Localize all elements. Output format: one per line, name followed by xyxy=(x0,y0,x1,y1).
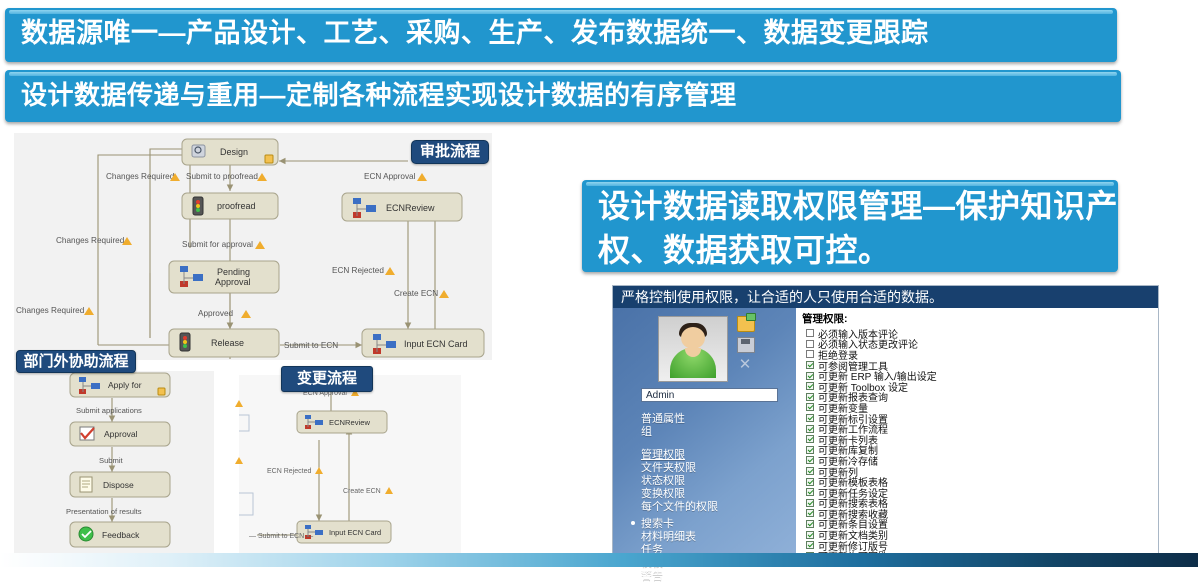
flow-node-label: Feedback xyxy=(102,530,140,540)
svg-text:Changes Required: Changes Required xyxy=(16,306,85,315)
flow-node-label: Design xyxy=(220,147,248,157)
flow-node[interactable]: Input ECN Card xyxy=(362,329,484,357)
flow-node[interactable]: Feedback xyxy=(70,522,170,547)
svg-text:Create ECN: Create ECN xyxy=(394,289,438,298)
bottom-accent-bar xyxy=(0,553,1198,567)
headline-banner-2-text: 设计数据传递与重用—定制各种流程实现设计数据的有序管理 xyxy=(5,70,1121,120)
checkbox-checked-icon[interactable] xyxy=(806,435,814,443)
flow-node-label: proofread xyxy=(217,201,256,211)
nav-item-group[interactable]: 组 xyxy=(641,426,685,439)
svg-text:Changes Required: Changes Required xyxy=(56,236,125,245)
change-flow-panel: ECNReview Input ECN Card ECN Approval EC… xyxy=(239,375,461,558)
nav-group-other: 搜索卡 材料明细表 任务 模板 警告 xyxy=(641,518,696,583)
checkbox-checked-icon[interactable] xyxy=(806,456,814,464)
checkbox-checked-icon[interactable] xyxy=(806,446,814,454)
nav-group-general: 普通属性 组 xyxy=(641,413,685,439)
permission-list-item[interactable]: 必须输入状态更改评论 xyxy=(806,339,1158,350)
svg-text:Approved: Approved xyxy=(198,309,233,318)
checkbox-checked-icon[interactable] xyxy=(806,488,814,496)
flow-node-label: Input ECN Card xyxy=(404,339,468,349)
headline-banner-3: 设计数据读取权限管理—保护知识产权、数据获取可控。 xyxy=(582,180,1118,272)
permission-list-pane: 管理权限: 必须输入版本评论必须输入状态更改评论拒绝登录可参阅管理工具可更新 E… xyxy=(796,308,1158,557)
checkbox-checked-icon[interactable] xyxy=(806,478,814,486)
avatar-head xyxy=(681,327,705,349)
checkbox-checked-icon[interactable] xyxy=(806,382,814,390)
delete-x-icon[interactable]: ✕ xyxy=(737,358,753,372)
flow-node-label: Input ECN Card xyxy=(329,528,381,537)
flow-node-label: Pending xyxy=(217,267,250,277)
outside-department-flow-diagram: Apply for Approval Dispose Feedback Subm… xyxy=(14,371,214,558)
svg-text:ECN Rejected: ECN Rejected xyxy=(267,468,311,475)
nav-group-permissions: 管理权限 文件夹权限 状态权限 变换权限 每个文件的权限 xyxy=(641,449,718,514)
flow-node[interactable]: Design xyxy=(182,139,278,165)
open-folder-icon[interactable] xyxy=(737,316,755,332)
tag-outside-department-flow: 部门外协助流程 xyxy=(16,350,136,373)
svg-text:Presentation of results: Presentation of results xyxy=(66,507,142,516)
checkbox-checked-icon[interactable] xyxy=(806,531,814,539)
svg-text:Submit for approval: Submit for approval xyxy=(182,240,253,249)
flow-node[interactable]: ECNReview xyxy=(297,411,387,433)
flow-node[interactable]: Apply for xyxy=(70,373,170,397)
permission-dialog: 严格控制使用权限，让合适的人只使用合适的数据。 ✕ Admin 普通属性 组 管… xyxy=(612,285,1159,558)
permission-list-item[interactable]: 可更新冷存储 xyxy=(806,455,1158,466)
nav-item-general-properties[interactable]: 普通属性 xyxy=(641,413,685,426)
svg-text:Submit to ECN: Submit to ECN xyxy=(284,341,338,350)
checkbox-checked-icon[interactable] xyxy=(806,509,814,517)
permission-checkbox-list[interactable]: 必须输入版本评论必须输入状态更改评论拒绝登录可参阅管理工具可更新 ERP 输入/… xyxy=(800,328,1158,566)
svg-text:ECN Rejected: ECN Rejected xyxy=(332,266,384,275)
svg-text:— Submit to ECN —: — Submit to ECN — xyxy=(249,533,313,540)
headline-banner-1-text: 数据源唯一—产品设计、工艺、采购、生产、发布数据统一、数据变更跟踪 xyxy=(5,8,1117,58)
nav-item-bom[interactable]: 材料明细表 xyxy=(641,531,696,544)
svg-text:Submit applications: Submit applications xyxy=(76,406,142,415)
nav-item-folder-permission[interactable]: 文件夹权限 xyxy=(641,462,718,475)
svg-text:ECN Approval: ECN Approval xyxy=(364,172,416,181)
checkbox-checked-icon[interactable] xyxy=(806,361,814,369)
approval-flow-diagram: Design proofread Pending Approval Releas… xyxy=(14,133,492,360)
checkbox-checked-icon[interactable] xyxy=(806,372,814,380)
nav-item-admin-permission[interactable]: 管理权限 xyxy=(641,449,718,462)
checkbox-checked-icon[interactable] xyxy=(806,520,814,528)
checkbox-checked-icon[interactable] xyxy=(806,425,814,433)
checkbox-checked-icon[interactable] xyxy=(806,541,814,549)
flow-node-label: Approval xyxy=(104,429,138,439)
svg-text:Submit: Submit xyxy=(99,456,124,465)
permission-dialog-title: 严格控制使用权限，让合适的人只使用合适的数据。 xyxy=(613,286,1158,308)
flow-node-label: Release xyxy=(211,338,244,348)
checkbox-checked-icon[interactable] xyxy=(806,414,814,422)
svg-text:Changes Required: Changes Required xyxy=(106,172,175,181)
headline-banner-3-text: 设计数据读取权限管理—保护知识产权、数据获取可控。 xyxy=(582,180,1118,272)
checkbox-checked-icon[interactable] xyxy=(806,499,814,507)
flow-node[interactable]: Dispose xyxy=(70,472,170,497)
checkbox-unchecked-icon[interactable] xyxy=(806,329,814,337)
flow-node[interactable]: Approval xyxy=(70,422,170,446)
save-disk-icon[interactable] xyxy=(737,337,755,353)
checkbox-checked-icon[interactable] xyxy=(806,393,814,401)
checkbox-checked-icon[interactable] xyxy=(806,403,814,411)
flow-node[interactable]: Release xyxy=(169,329,279,357)
approval-flow-panel: Design proofread Pending Approval Releas… xyxy=(14,133,492,360)
user-avatar xyxy=(658,316,728,382)
flow-node[interactable]: proofread xyxy=(182,193,278,219)
flow-node-label: Apply for xyxy=(108,380,142,390)
flow-node-label: ECNReview xyxy=(386,203,435,213)
nav-item-transition-permission[interactable]: 变换权限 xyxy=(641,488,718,501)
flow-node[interactable]: Pending Approval xyxy=(169,261,279,293)
nav-item-state-permission[interactable]: 状态权限 xyxy=(641,475,718,488)
svg-text:Submit to proofread: Submit to proofread xyxy=(186,172,258,181)
flow-node-label: Dispose xyxy=(103,480,134,490)
headline-banner-2: 设计数据传递与重用—定制各种流程实现设计数据的有序管理 xyxy=(5,70,1121,122)
sidebar-toolbar: ✕ xyxy=(737,316,761,377)
nav-selected-bullet xyxy=(631,521,635,525)
flow-node-label: ECNReview xyxy=(329,418,370,427)
permission-dialog-sidebar: ✕ Admin 普通属性 组 管理权限 文件夹权限 状态权限 变换权限 每个文件… xyxy=(613,308,796,557)
flow-node-label: Approval xyxy=(215,277,251,287)
change-flow-diagram: ECNReview Input ECN Card ECN Approval EC… xyxy=(239,375,461,558)
tag-change-flow: 变更流程 xyxy=(281,366,373,392)
svg-text:Create ECN: Create ECN xyxy=(343,488,381,495)
tag-approval-flow: 审批流程 xyxy=(411,140,489,164)
checkbox-checked-icon[interactable] xyxy=(806,467,814,475)
permission-list-label: 管理权限: xyxy=(802,311,1158,326)
headline-banner-1: 数据源唯一—产品设计、工艺、采购、生产、发布数据统一、数据变更跟踪 xyxy=(5,8,1117,62)
nav-item-per-file-permission[interactable]: 每个文件的权限 xyxy=(641,501,718,514)
user-name-field[interactable]: Admin xyxy=(641,388,778,402)
nav-item-search-card[interactable]: 搜索卡 xyxy=(641,518,696,531)
nav-item-warning[interactable]: 警告 xyxy=(641,570,696,583)
flow-node[interactable]: ECNReview xyxy=(342,193,462,221)
checkbox-unchecked-icon[interactable] xyxy=(806,350,814,358)
checkbox-unchecked-icon[interactable] xyxy=(806,340,814,348)
outside-department-flow-panel: Apply for Approval Dispose Feedback Subm… xyxy=(14,371,214,558)
